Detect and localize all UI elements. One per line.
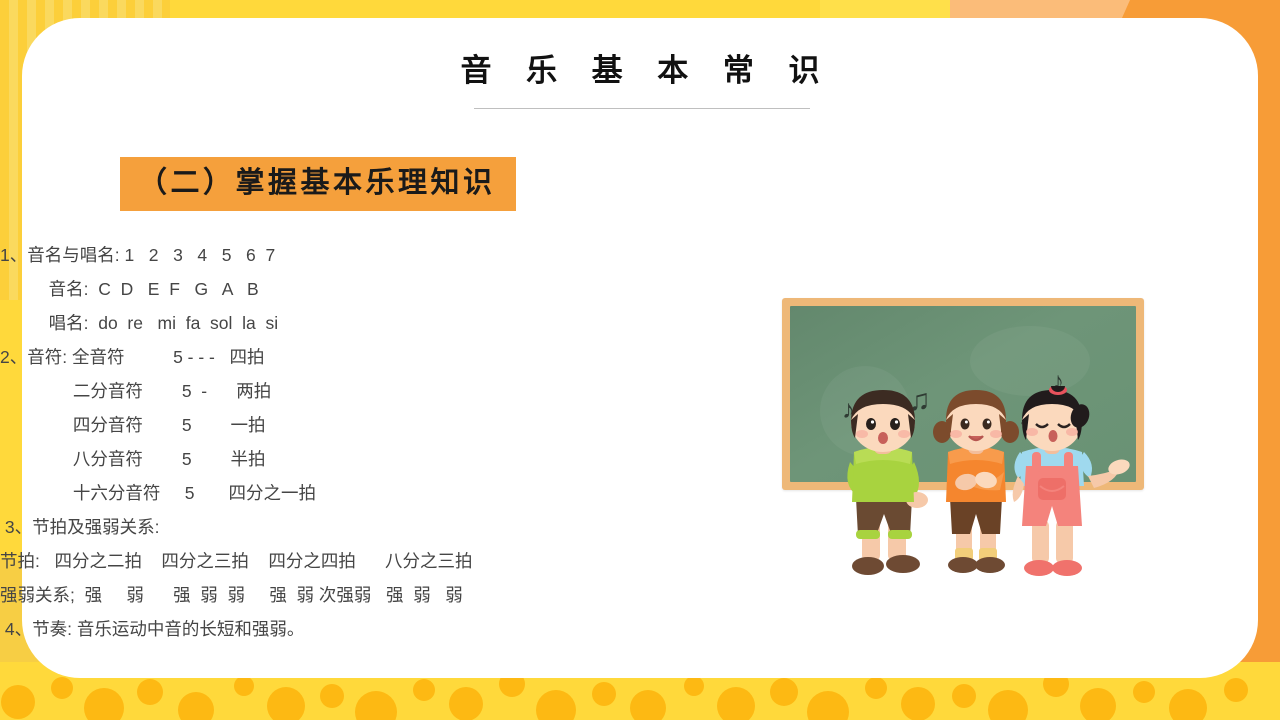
- page-title-wrap: 音 乐 基 本 常 识: [0, 52, 1280, 105]
- lesson-line: 强弱关系; 强 弱 强 弱 弱 强 弱 次强弱 强 弱 弱: [0, 578, 720, 612]
- lesson-line: 十六分音符 5 四分之一拍: [0, 476, 720, 510]
- decorative-dot: [865, 677, 887, 699]
- lesson-line: 4、节奏: 音乐运动中音的长短和强弱。: [0, 612, 720, 646]
- title-underline-rule: [474, 108, 810, 109]
- decorative-dot: [449, 687, 483, 720]
- decorative-dot: [1224, 678, 1248, 702]
- decorative-dot: [267, 687, 305, 720]
- section-heading-banner: （二）掌握基本乐理知识: [120, 157, 516, 211]
- lesson-line: 二分音符 5 - 两拍: [0, 374, 720, 408]
- decorative-dot: [1133, 681, 1155, 703]
- decorative-dot: [684, 676, 704, 696]
- lesson-line: 四分音符 5 一拍: [0, 408, 720, 442]
- decorative-dot: [320, 684, 344, 708]
- lesson-line: 音名: C D E F G A B: [0, 272, 720, 306]
- decorative-dot: [988, 690, 1028, 720]
- decorative-dot: [51, 677, 73, 699]
- lesson-line: 2、音符: 全音符 5 - - - 四拍: [0, 340, 720, 374]
- decorative-dot: [355, 691, 397, 720]
- slide-root: 音 乐 基 本 常 识 （二）掌握基本乐理知识 1、音名与唱名: 1 2 3 4…: [0, 0, 1280, 720]
- lesson-line: 节拍: 四分之二拍 四分之三拍 四分之四拍 八分之三拍: [0, 544, 720, 578]
- lesson-line: 八分音符 5 半拍: [0, 442, 720, 476]
- decorative-dot: [536, 690, 576, 720]
- decorative-dot: [137, 679, 163, 705]
- lesson-line: 1、音名与唱名: 1 2 3 4 5 6 7: [0, 238, 720, 272]
- decorative-dot: [1, 685, 35, 719]
- decorative-dot: [1169, 689, 1207, 720]
- decorative-dot: [413, 679, 435, 701]
- lesson-body-text: 1、音名与唱名: 1 2 3 4 5 6 7 音名: C D E F G A B…: [0, 238, 720, 646]
- decorative-dot: [901, 687, 935, 720]
- decorative-dot: [178, 692, 214, 720]
- decorative-dot: [592, 682, 616, 706]
- child-girl-pink-overalls: [988, 386, 1138, 591]
- decorative-dot: [630, 690, 666, 720]
- page-title: 音 乐 基 本 常 识: [447, 52, 832, 105]
- section-heading-label: （二）掌握基本乐理知识: [138, 169, 496, 198]
- classroom-illustration: ♪ ♫ ♫ ♪: [772, 290, 1162, 600]
- decorative-dot: [770, 678, 798, 706]
- decorative-dot: [717, 687, 755, 720]
- decorative-dot: [952, 684, 976, 708]
- lesson-line: 唱名: do re mi fa sol la si: [0, 306, 720, 340]
- decorative-dot: [234, 676, 254, 696]
- decorative-dot: [1080, 688, 1116, 720]
- decorative-dot: [84, 688, 124, 720]
- lesson-line: 3、节拍及强弱关系:: [0, 510, 720, 544]
- decorative-dot: [807, 691, 849, 720]
